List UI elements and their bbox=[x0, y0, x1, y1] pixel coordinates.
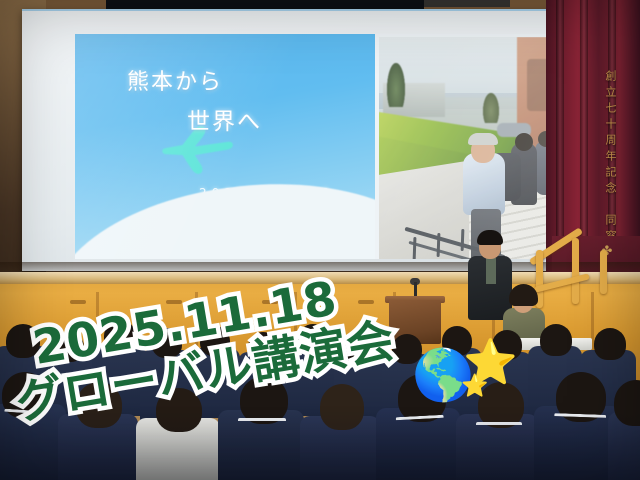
audience-head bbox=[540, 324, 572, 356]
panel-handle-3 bbox=[262, 300, 278, 304]
audience-head bbox=[152, 328, 182, 358]
projected-slide: 熊本から 世界へ 2025・11・18 上西川原 淳 bbox=[75, 34, 578, 259]
audience-head bbox=[298, 324, 328, 354]
audience-head bbox=[492, 330, 522, 360]
audience-head bbox=[344, 332, 374, 362]
standing-speaker-shirt bbox=[486, 258, 496, 284]
panel-handle-2 bbox=[166, 300, 182, 304]
projection-screen: 熊本から 世界へ 2025・11・18 上西川原 淳 bbox=[22, 9, 626, 271]
audience-head bbox=[248, 332, 278, 362]
slide-title-line1: 熊本から bbox=[127, 64, 223, 96]
screen-top-shadow-2 bbox=[424, 0, 510, 7]
audience-head bbox=[104, 320, 136, 352]
student-audience bbox=[0, 318, 640, 480]
anniversary-banner-text: 創立七十周年記念 同窓会 bbox=[596, 70, 618, 262]
audience-head bbox=[6, 324, 40, 358]
panel-handle-1 bbox=[70, 300, 86, 304]
photo-canvas: 熊本から 世界へ 2025・11・18 上西川原 淳 bbox=[0, 0, 640, 480]
stage-edge-lip bbox=[0, 272, 640, 284]
stage-stair-rail-right bbox=[600, 250, 607, 294]
stage-stair-rail-post-2 bbox=[572, 238, 579, 304]
audience-head bbox=[594, 328, 626, 360]
slide-background: 熊本から 世界へ 2025・11・18 上西川原 淳 bbox=[75, 34, 375, 259]
audience-head bbox=[392, 334, 422, 364]
audience-head bbox=[54, 332, 84, 362]
seated-attendant-hair bbox=[509, 284, 538, 306]
audience-head bbox=[200, 326, 230, 356]
slide-title-line2: 世界へ bbox=[187, 102, 262, 136]
audience-foreground-shade bbox=[0, 410, 640, 480]
audience-head bbox=[442, 326, 472, 356]
panel-handle-4 bbox=[358, 300, 374, 304]
standing-speaker-hair bbox=[477, 230, 503, 245]
